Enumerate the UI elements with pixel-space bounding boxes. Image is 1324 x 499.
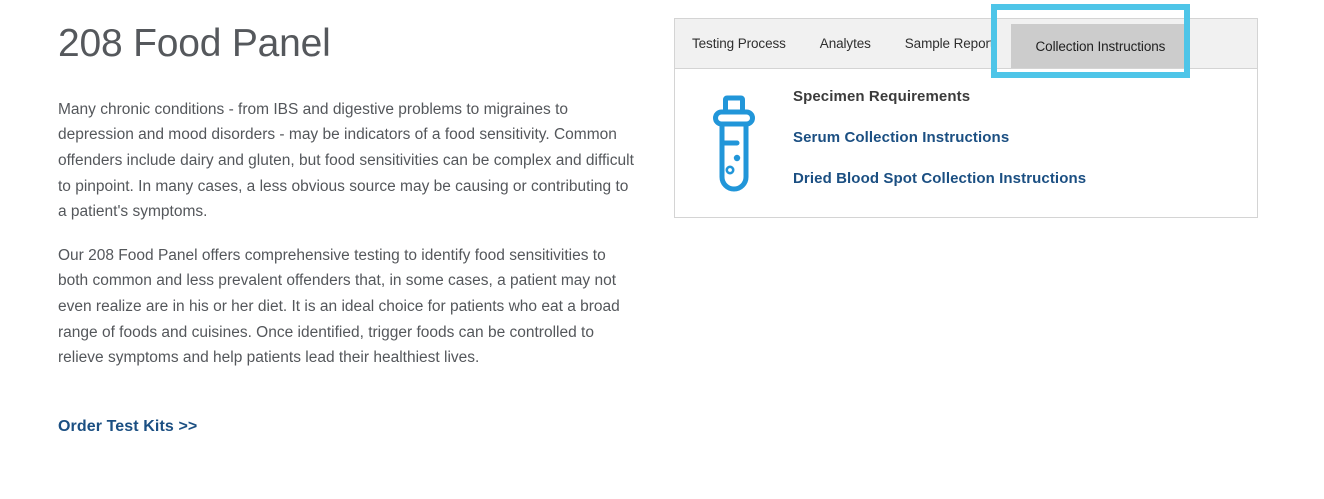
test-tube-icon-container [675, 89, 793, 198]
test-tube-icon [712, 95, 756, 198]
tab-bar: Testing Process Analytes Sample Report C… [674, 18, 1258, 68]
tabs-module: Testing Process Analytes Sample Report C… [674, 18, 1258, 218]
tab-testing-process[interactable]: Testing Process [675, 19, 803, 68]
panel-link-list: Specimen Requirements Serum Collection I… [793, 89, 1086, 186]
intro-paragraph: Many chronic conditions - from IBS and d… [58, 97, 636, 225]
dried-blood-spot-collection-instructions-link[interactable]: Dried Blood Spot Collection Instructions [793, 171, 1086, 186]
specimen-requirements-heading: Specimen Requirements [793, 89, 1086, 104]
description-paragraph: Our 208 Food Panel offers comprehensive … [58, 243, 636, 371]
page-title: 208 Food Panel [58, 0, 638, 67]
order-test-kits-link[interactable]: Order Test Kits >> [58, 418, 197, 436]
tab-sample-report[interactable]: Sample Report [888, 19, 1011, 68]
serum-collection-instructions-link[interactable]: Serum Collection Instructions [793, 130, 1086, 145]
tab-analytes[interactable]: Analytes [803, 19, 888, 68]
tab-collection-instructions[interactable]: Collection Instructions [1011, 24, 1191, 68]
collection-instructions-panel: Specimen Requirements Serum Collection I… [674, 68, 1258, 218]
article-column: 208 Food Panel Many chronic conditions -… [58, 0, 638, 436]
